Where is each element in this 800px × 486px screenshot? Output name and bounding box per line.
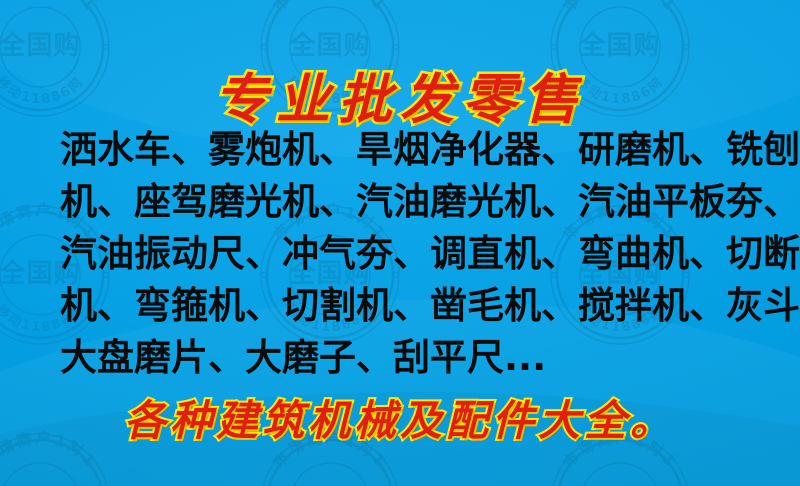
poster-canvas: 市场商户1对1移动11886网全国购市场商户1对1移动11886网全国购市场商户… xyxy=(0,0,800,486)
tagline: 各种建筑机械及配件大全。 xyxy=(0,396,800,446)
product-line: 机、座驾磨光机、汽油磨光机、汽油平板夯、 xyxy=(60,176,770,228)
product-line: 大盘磨片、大磨子、刮平尺... xyxy=(60,332,770,384)
product-line: 洒水车、雾炮机、旱烟净化器、研磨机、铣刨 xyxy=(60,124,770,176)
product-list: 洒水车、雾炮机、旱烟净化器、研磨机、铣刨 机、座驾磨光机、汽油磨光机、汽油平板夯… xyxy=(60,124,770,384)
product-line: 汽油振动尺、冲气夯、调直机、弯曲机、切断 xyxy=(60,228,770,280)
page-title: 专业批发零售 xyxy=(0,72,800,126)
product-line: 机、弯箍机、切割机、凿毛机、搅拌机、灰斗 xyxy=(60,280,770,332)
